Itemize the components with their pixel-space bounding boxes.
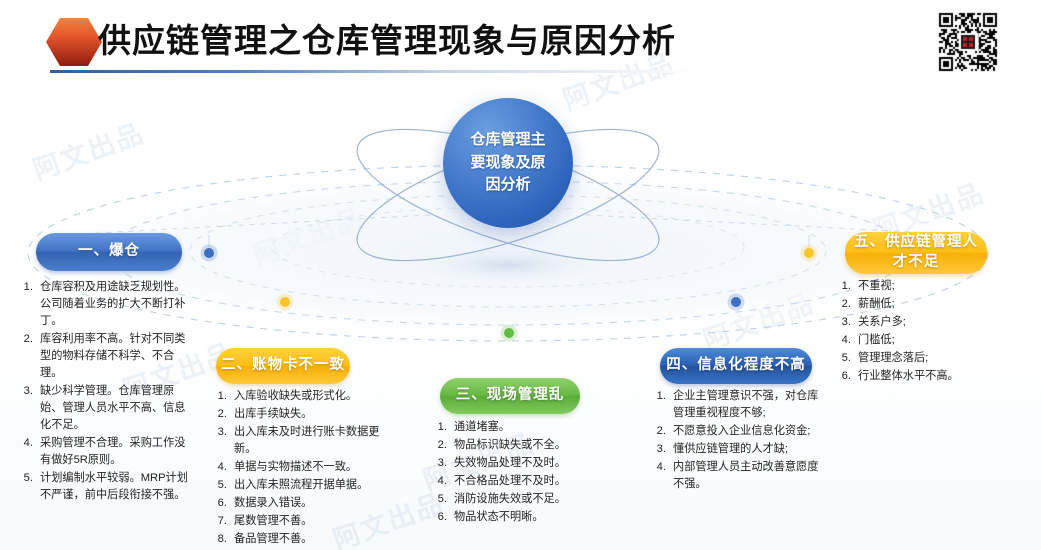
- list-item-text: 入库验收缺失或形式化。: [234, 388, 384, 405]
- section-heading-4[interactable]: 四、信息化程度不高: [660, 348, 812, 384]
- list-item-text: 门槛低;: [858, 332, 1020, 349]
- list-item-number: 2.: [22, 331, 40, 382]
- list-item-text: 失效物品处理不及时。: [454, 455, 612, 472]
- qr-code-canvas: [915, 8, 1021, 76]
- list-item: 1.入库验收缺失或形式化。: [216, 388, 384, 405]
- section-heading-5[interactable]: 五、供应链管理人才不足: [845, 232, 987, 274]
- list-item-number: 3.: [655, 441, 673, 458]
- slide-canvas: 阿文出品阿文出品阿文出品阿文出品阿文出品阿文出品阿文出品阿文出品 供应链管理之仓…: [0, 0, 1041, 550]
- sphere-shadow: [400, 243, 616, 287]
- list-item: 3.关系户多;: [840, 314, 1020, 331]
- list-item-text: 行业整体水平不高。: [858, 368, 1020, 385]
- list-item-text: 缺少科学管理。仓库管理原始、管理人员水平不高、信息化不足。: [40, 383, 196, 434]
- list-item-text: 尾数管理不善。: [234, 513, 384, 530]
- section-heading-2[interactable]: 二、账物卡不一致: [216, 348, 350, 384]
- list-item: 4.单据与实物描述不一致。: [216, 459, 384, 476]
- list-item: 4.内部管理人员主动改善意愿度不强。: [655, 459, 827, 493]
- section-list-3: 1.通道堵塞。2.物品标识缺失或不全。3.失效物品处理不及时。4.不合格品处理不…: [436, 419, 612, 527]
- list-item-number: 4.: [655, 459, 673, 493]
- list-item-number: 4.: [216, 459, 234, 476]
- list-item: 1.仓库容积及用途缺乏规划性。公司随着业务的扩大不断打补丁。: [22, 279, 196, 330]
- list-item-text: 出入库未及时进行账卡数据更新。: [234, 424, 384, 458]
- list-item: 2.库容利用率不高。针对不同类型的物料存储不科学、不合理。: [22, 331, 196, 382]
- list-item-number: 3.: [22, 383, 40, 434]
- list-item-text: 出入库未照流程开据单据。: [234, 477, 384, 494]
- section-heading-3[interactable]: 三、现场管理乱: [440, 378, 580, 414]
- list-item-number: 4.: [840, 332, 858, 349]
- list-item-number: 1.: [216, 388, 234, 405]
- section-list-2: 1.入库验收缺失或形式化。2.出库手续缺失。3.出入库未及时进行账卡数据更新。4…: [216, 388, 384, 549]
- list-item-number: 8.: [216, 531, 234, 548]
- dot-blue-right: [731, 297, 741, 307]
- hexagon-icon: [46, 18, 102, 66]
- list-item: 3.出入库未及时进行账卡数据更新。: [216, 424, 384, 458]
- title-underline: [50, 70, 700, 73]
- list-item: 4.门槛低;: [840, 332, 1020, 349]
- list-item-text: 备品管理不善。: [234, 531, 384, 548]
- center-sphere-label: 仓库管理主 要现象及原 因分析: [443, 98, 573, 228]
- center-sphere: 仓库管理主 要现象及原 因分析: [443, 98, 573, 228]
- list-item: 5.消防设施失效或不足。: [436, 491, 612, 508]
- list-item-number: 2.: [655, 423, 673, 440]
- list-item: 3.失效物品处理不及时。: [436, 455, 612, 472]
- list-item-number: 2.: [436, 437, 454, 454]
- list-item: 3.懂供应链管理的人才缺;: [655, 441, 827, 458]
- list-item: 1.不重视;: [840, 278, 1020, 295]
- list-item-number: 4.: [436, 473, 454, 490]
- list-item: 4.采购管理不合理。采购工作没有做好5R原则。: [22, 435, 196, 469]
- section-heading-1[interactable]: 一、爆仓: [36, 233, 182, 271]
- list-item-number: 1.: [22, 279, 40, 330]
- list-item: 6.物品状态不明晰。: [436, 509, 612, 526]
- list-item: 5.管理理念落后;: [840, 350, 1020, 367]
- list-item-text: 关系户多;: [858, 314, 1020, 331]
- dot-green-center: [504, 328, 514, 338]
- list-item: 2.薪酬低;: [840, 296, 1020, 313]
- section-heading-1-label: 一、爆仓: [78, 242, 140, 262]
- list-item-text: 单据与实物描述不一致。: [234, 459, 384, 476]
- list-item: 4.不合格品处理不及时。: [436, 473, 612, 490]
- list-item-number: 5.: [22, 470, 40, 504]
- center-line-1: 仓库管理主: [470, 129, 545, 152]
- list-item-number: 1.: [655, 388, 673, 422]
- list-item: 1.通道堵塞。: [436, 419, 612, 436]
- list-item-number: 5.: [436, 491, 454, 508]
- list-item-text: 消防设施失效或不足。: [454, 491, 612, 508]
- list-item: 2.物品标识缺失或不全。: [436, 437, 612, 454]
- list-item-text: 薪酬低;: [858, 296, 1020, 313]
- list-item: 2.出库手续缺失。: [216, 406, 384, 423]
- center-line-2: 要现象及原: [470, 152, 545, 175]
- list-item-text: 管理理念落后;: [858, 350, 1020, 367]
- list-item-text: 内部管理人员主动改善意愿度不强。: [673, 459, 827, 493]
- list-item-text: 采购管理不合理。采购工作没有做好5R原则。: [40, 435, 196, 469]
- list-item-text: 库容利用率不高。针对不同类型的物料存储不科学、不合理。: [40, 331, 196, 382]
- list-item-number: 3.: [436, 455, 454, 472]
- list-item-number: 2.: [216, 406, 234, 423]
- dot-gold-right: [804, 248, 814, 258]
- section-heading-2-label: 二、账物卡不一致: [221, 356, 345, 376]
- section-list-4: 1.企业主管理意识不强，对仓库管理重视程度不够;2.不愿意投入企业信息化资金;3…: [655, 388, 827, 494]
- list-item: 2.不愿意投入企业信息化资金;: [655, 423, 827, 440]
- list-item-text: 不愿意投入企业信息化资金;: [673, 423, 827, 440]
- list-item: 5.出入库未照流程开据单据。: [216, 477, 384, 494]
- list-item-number: 3.: [216, 424, 234, 458]
- page-title: 供应链管理之仓库管理现象与原因分析: [98, 14, 676, 62]
- list-item-text: 不重视;: [858, 278, 1020, 295]
- list-item-number: 6.: [436, 509, 454, 526]
- list-item-text: 物品标识缺失或不全。: [454, 437, 612, 454]
- list-item-text: 物品状态不明晰。: [454, 509, 612, 526]
- list-item-text: 懂供应链管理的人才缺;: [673, 441, 827, 458]
- list-item: 5.计划编制水平较弱。MRP计划不严谨，前中后段衔接不强。: [22, 470, 196, 504]
- list-item-number: 7.: [216, 513, 234, 530]
- list-item-number: 3.: [840, 314, 858, 331]
- list-item: 6.行业整体水平不高。: [840, 368, 1020, 385]
- list-item: 3.缺少科学管理。仓库管理原始、管理人员水平不高、信息化不足。: [22, 383, 196, 434]
- list-item-number: 4.: [22, 435, 40, 469]
- section-heading-3-label: 三、现场管理乱: [456, 386, 565, 406]
- list-item-text: 计划编制水平较弱。MRP计划不严谨，前中后段衔接不强。: [40, 470, 196, 504]
- list-item-number: 6.: [216, 495, 234, 512]
- list-item: 1.企业主管理意识不强，对仓库管理重视程度不够;: [655, 388, 827, 422]
- list-item-number: 2.: [840, 296, 858, 313]
- list-item-text: 企业主管理意识不强，对仓库管理重视程度不够;: [673, 388, 827, 422]
- list-item-text: 仓库容积及用途缺乏规划性。公司随着业务的扩大不断打补丁。: [40, 279, 196, 330]
- list-item-number: 1.: [436, 419, 454, 436]
- list-item-text: 通道堵塞。: [454, 419, 612, 436]
- list-item-text: 数据录入错误。: [234, 495, 384, 512]
- section-heading-4-label: 四、信息化程度不高: [666, 356, 806, 376]
- list-item-number: 5.: [216, 477, 234, 494]
- section-heading-5-label: 五、供应链管理人才不足: [851, 233, 981, 272]
- list-item: 7.尾数管理不善。: [216, 513, 384, 530]
- list-item: 8.备品管理不善。: [216, 531, 384, 548]
- list-item-text: 出库手续缺失。: [234, 406, 384, 423]
- qr-code-icon[interactable]: [913, 6, 1023, 78]
- list-item-number: 1.: [840, 278, 858, 295]
- list-item-text: 不合格品处理不及时。: [454, 473, 612, 490]
- dot-gold-left: [280, 297, 290, 307]
- center-line-3: 因分析: [485, 174, 530, 197]
- dot-blue-left: [204, 248, 214, 258]
- slide-title-bar: 供应链管理之仓库管理现象与原因分析: [40, 8, 700, 70]
- section-list-1: 1.仓库容积及用途缺乏规划性。公司随着业务的扩大不断打补丁。2.库容利用率不高。…: [22, 279, 196, 505]
- list-item: 6.数据录入错误。: [216, 495, 384, 512]
- section-list-5: 1.不重视;2.薪酬低;3.关系户多;4.门槛低;5.管理理念落后;6.行业整体…: [840, 278, 1020, 386]
- list-item-number: 5.: [840, 350, 858, 367]
- list-item-number: 6.: [840, 368, 858, 385]
